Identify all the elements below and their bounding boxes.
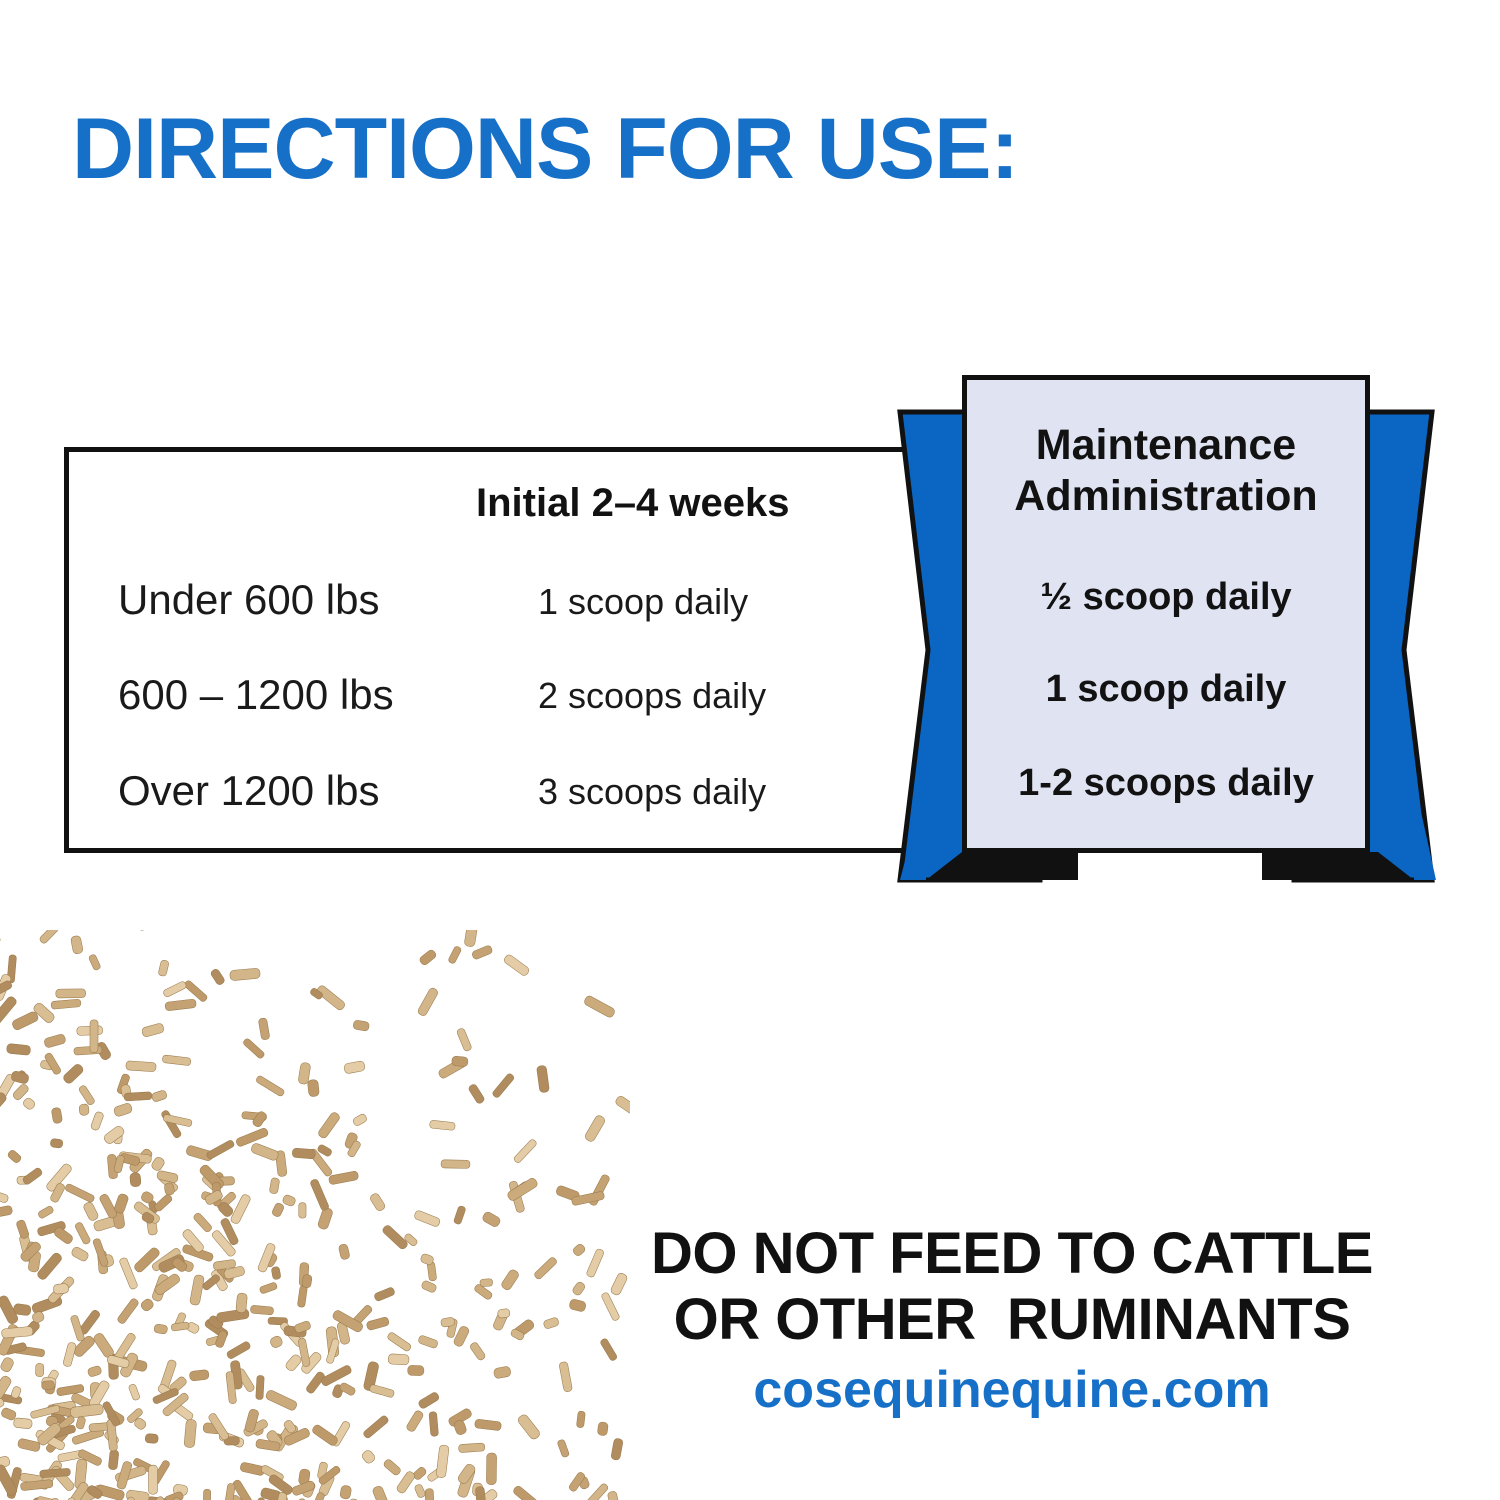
weight-label-row-1: 600 – 1200 lbs (118, 671, 394, 719)
warning-line-2: OR OTHER RUMINANTS (632, 1288, 1392, 1352)
initial-column-header: Initial 2–4 weeks (476, 481, 790, 526)
maintenance-dose-row-1: 1 scoop daily (967, 668, 1365, 711)
initial-dose-row-2: 3 scoops daily (538, 771, 766, 813)
initial-dose-row-1: 2 scoops daily (538, 675, 766, 717)
feed-pellets-photo (0, 930, 630, 1500)
initial-dose-row-0: 1 scoop daily (538, 581, 748, 623)
page-title: DIRECTIONS FOR USE: (72, 101, 1018, 197)
weight-label-row-0: Under 600 lbs (118, 576, 380, 624)
website-link[interactable]: cosequinequine.com (632, 1360, 1392, 1420)
weight-label-row-2: Over 1200 lbs (118, 767, 379, 815)
warning-line-1: DO NOT FEED TO CATTLE (632, 1222, 1392, 1286)
maintenance-panel-title: Maintenance Administration (967, 420, 1365, 522)
maintenance-title-line-2: Administration (1014, 472, 1317, 520)
maintenance-dose-row-2: 1-2 scoops daily (967, 762, 1365, 805)
maintenance-administration-panel: Maintenance Administration ½ scoop daily… (962, 375, 1370, 853)
maintenance-dose-row-0: ½ scoop daily (967, 576, 1365, 619)
directions-for-use-panel: DIRECTIONS FOR USE: Initial 2–4 weeks Un… (0, 0, 1500, 1500)
maintenance-title-line-1: Maintenance (1036, 421, 1296, 469)
